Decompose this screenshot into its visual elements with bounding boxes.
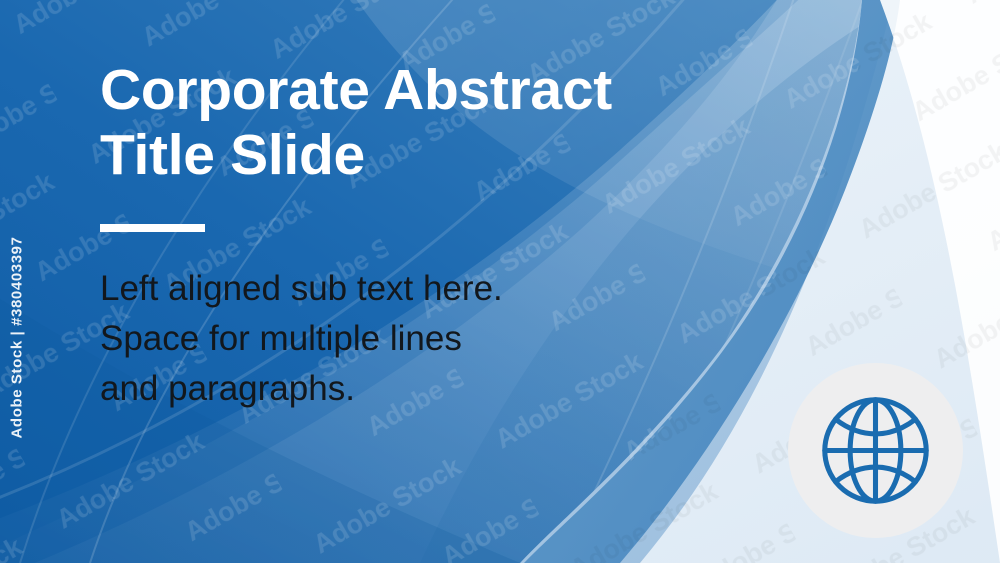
slide-subtitle: Left aligned sub text here. Space for mu…: [100, 264, 720, 414]
title-slide: Adobe Stock Adobe Stock Adobe Stock Adob…: [0, 0, 1000, 563]
adobe-stock-credit: Adobe Stock | #380403397: [9, 179, 26, 439]
page-title: Corporate Abstract Title Slide: [100, 58, 720, 188]
title-divider-rule: [100, 224, 205, 232]
globe-icon: [817, 392, 934, 509]
globe-badge: [788, 363, 963, 538]
slide-text-block: Corporate Abstract Title Slide Left alig…: [100, 58, 720, 449]
